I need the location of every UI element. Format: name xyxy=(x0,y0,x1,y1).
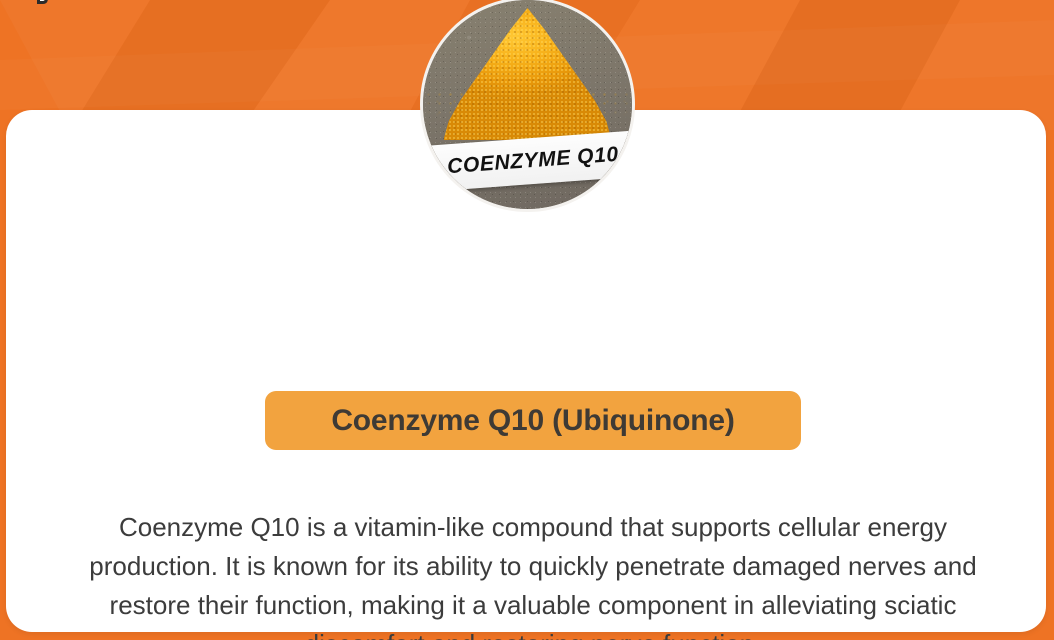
page-root: Coenzyme Q10 (Ubiquinone) Coenzyme Q10 i… xyxy=(0,0,1054,640)
product-image-circle: COENZYME Q10 xyxy=(420,0,635,212)
product-label-text: COENZYME Q10 xyxy=(446,143,619,180)
product-image: COENZYME Q10 xyxy=(423,0,632,209)
ingredient-description: Coenzyme Q10 is a vitamin-like compound … xyxy=(83,508,983,640)
page-title: Coenzyme Q10 (Ubiquinone) xyxy=(331,404,734,438)
ingredient-title-badge: Coenzyme Q10 (Ubiquinone) xyxy=(265,391,801,450)
logo-fragment-icon xyxy=(34,0,50,7)
